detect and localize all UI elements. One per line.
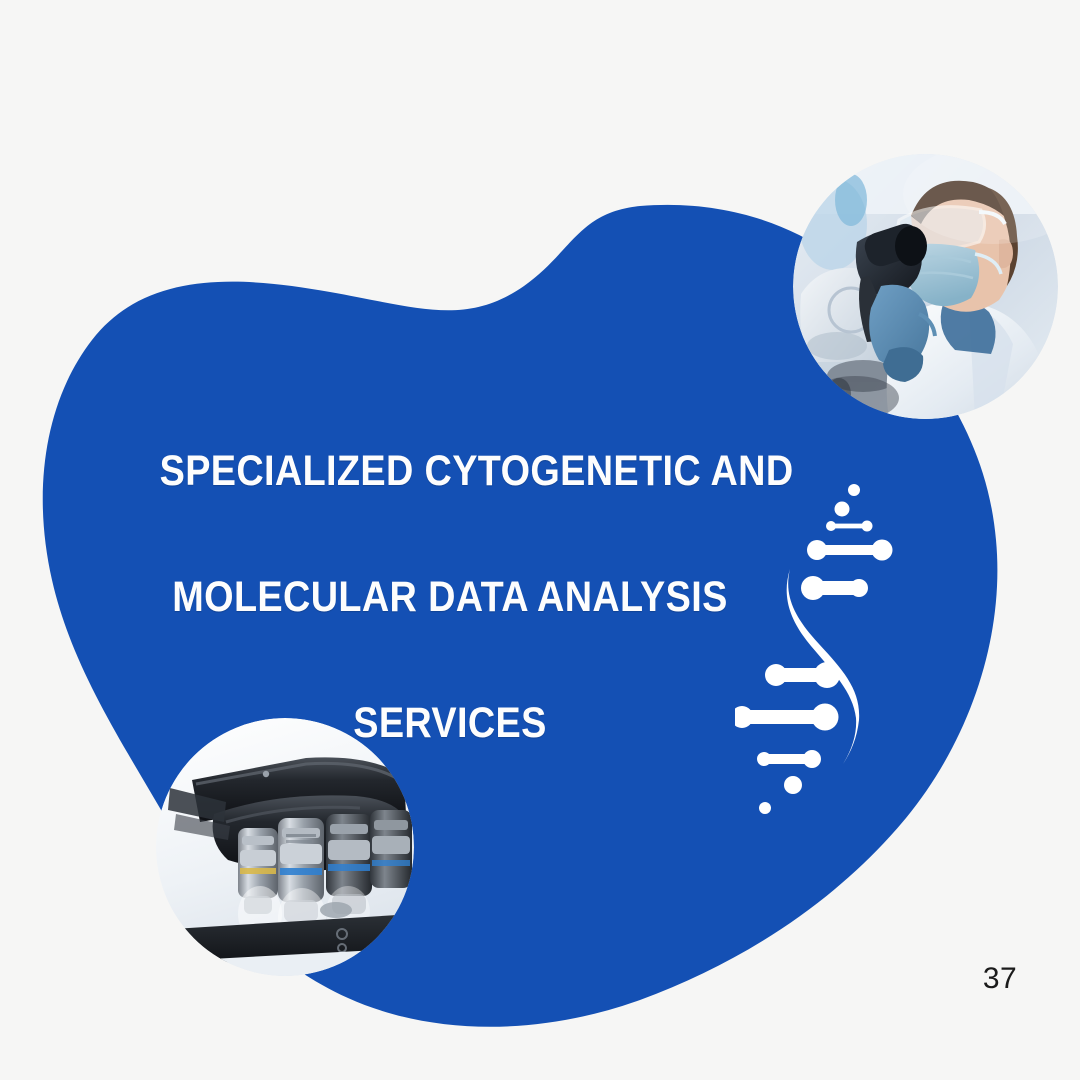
dna-dot-bottom-2 [759,802,771,814]
dna-rung-3 [801,576,868,600]
dna-dot-top-2 [835,502,850,517]
dna-rung-2 [807,540,893,561]
dna-dot-top-1 [848,484,860,496]
dna-dot-bottom-1 [784,776,802,794]
dna-helix-graphic [735,468,900,818]
slide-canvas: SPECIALIZED CYTOGENETIC AND MOLECULAR DA… [0,0,1080,1080]
dna-rung-4 [765,662,840,688]
dna-rung-5 [735,704,839,731]
page-number: 37 [960,962,1040,996]
dna-rung-1 [826,521,873,532]
dna-rung-6 [757,750,821,768]
microscope-objective-lenses-photo [156,718,414,976]
scientist-at-microscope-photo [793,154,1058,419]
objective-lens-4 [370,810,412,888]
